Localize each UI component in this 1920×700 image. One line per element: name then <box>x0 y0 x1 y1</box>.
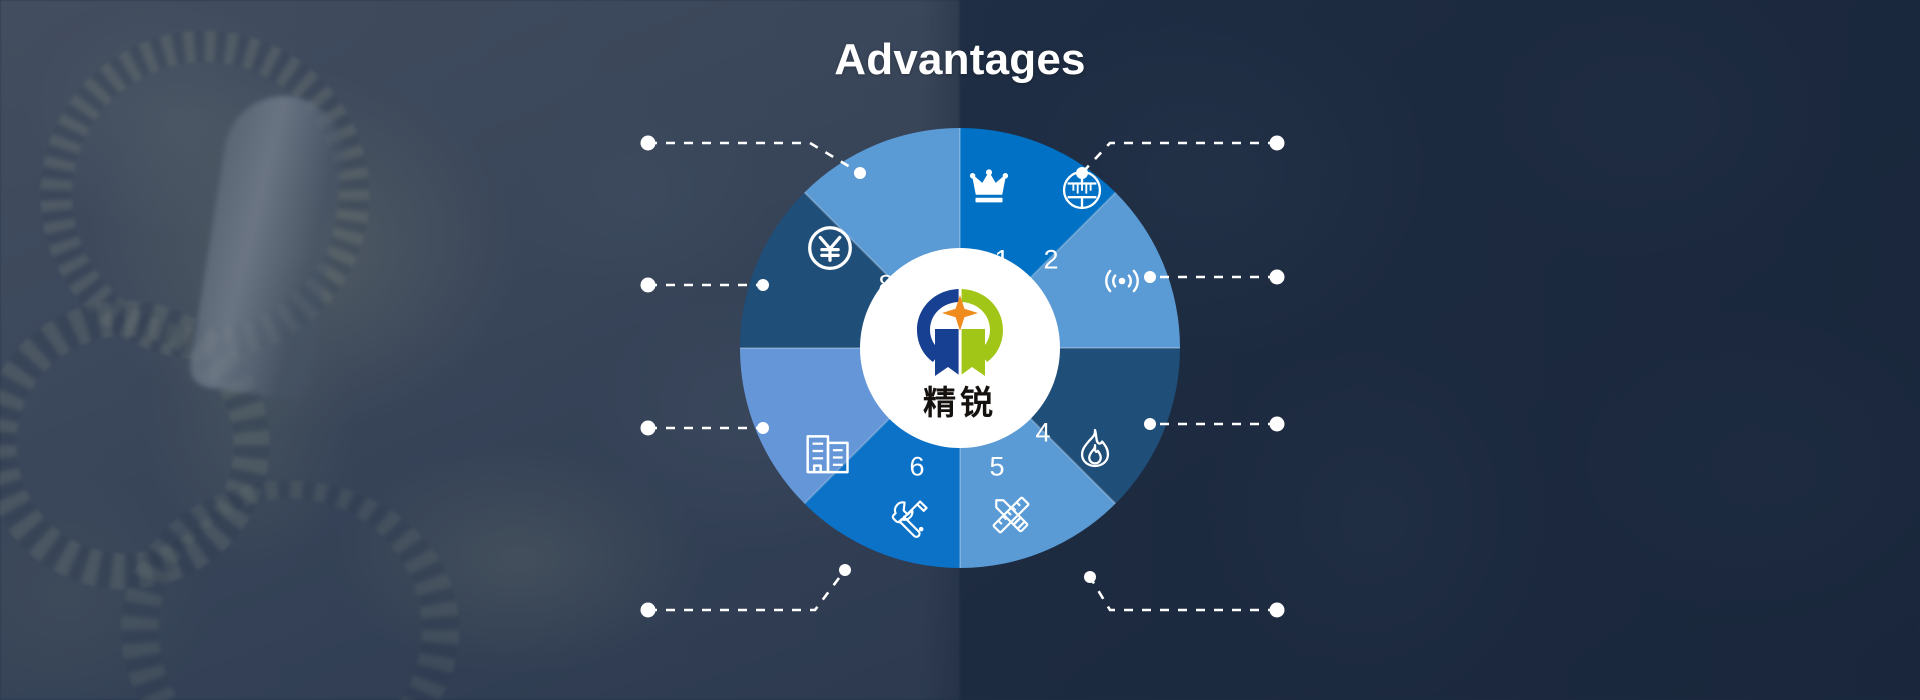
flame-icon <box>1072 425 1118 471</box>
tools-icon <box>887 495 933 541</box>
yen-coin-icon <box>804 222 856 274</box>
center-logo-disc[interactable]: 精锐 <box>860 248 1060 448</box>
gauge-icon <box>1059 167 1105 213</box>
brand-logo-mark <box>899 281 1021 385</box>
page-title: Advantages <box>0 38 1920 82</box>
ruler-pencil-icon <box>988 492 1034 538</box>
brand-name-text: 精锐 <box>923 386 997 419</box>
advantages-wheel: 1 2 3 <box>740 128 1180 568</box>
building-icon <box>802 425 854 477</box>
wireless-icon <box>1099 258 1145 304</box>
crown-icon <box>966 165 1012 211</box>
